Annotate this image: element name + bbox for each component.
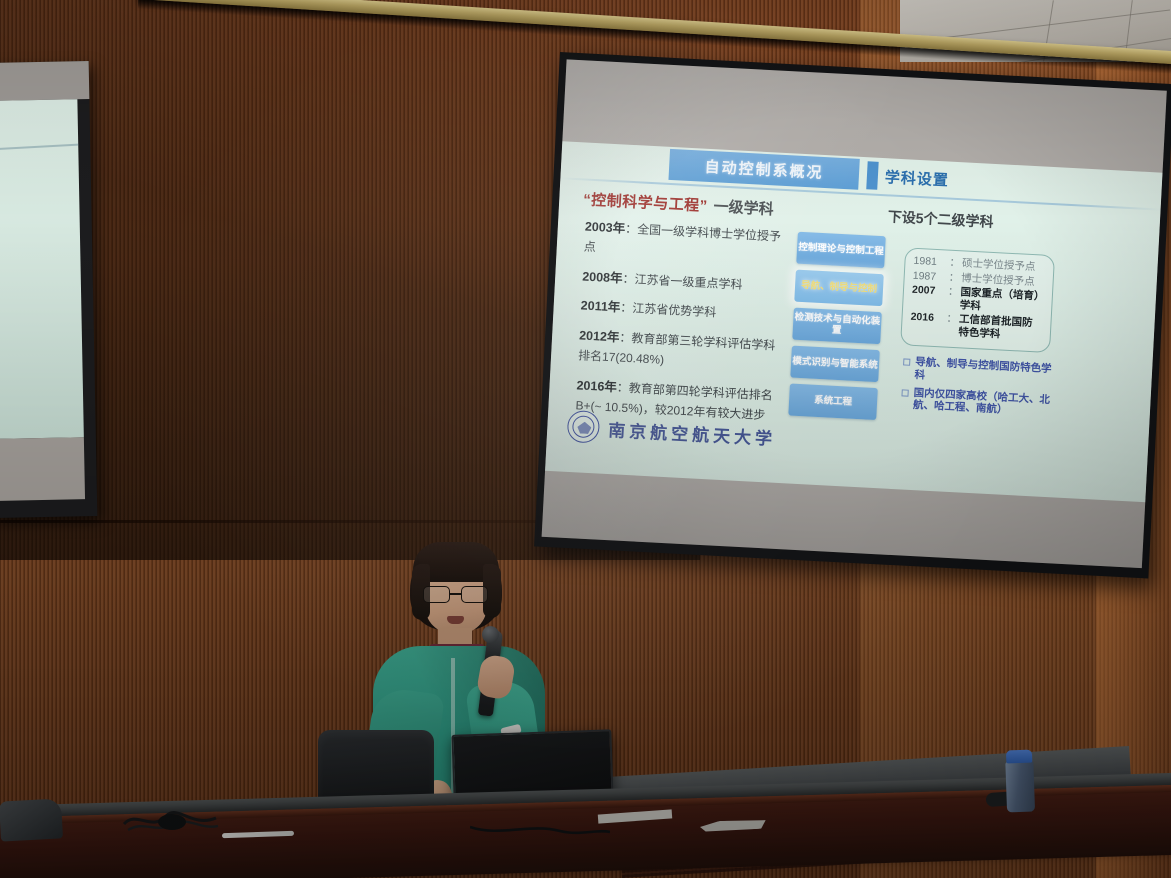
- callout-sep: ：: [949, 257, 960, 270]
- nuaa-seal-logo-icon: [567, 410, 601, 444]
- main-projection-screen: 自动控制系概况 学科设置 “控制科学与工程”一级学科 下设5个二级学科 2003…: [534, 52, 1171, 584]
- screen-face: [0, 99, 84, 439]
- timeline-year: 2016年: [576, 378, 617, 394]
- screen-line: [0, 144, 78, 151]
- cable-svg: [470, 823, 610, 835]
- timeline-year: 2011年: [580, 299, 620, 315]
- laptop-cable: [470, 822, 610, 834]
- timeline-year: 2003年: [585, 220, 626, 236]
- timeline-sep: ：: [620, 301, 633, 316]
- tangled-cables: [122, 806, 220, 834]
- callout-sep: ：: [947, 286, 959, 312]
- callout-row: 2016 ： 工信部首批国防特色学科: [910, 311, 1043, 343]
- callout-sep: ：: [948, 271, 959, 284]
- callout-year: 2007: [911, 284, 946, 311]
- callout-text: 国家重点（培育）学科: [959, 286, 1044, 316]
- secondary-projection-screen: [0, 61, 97, 518]
- black-bag: [0, 798, 63, 841]
- discipline-box: 控制理论与控制工程: [796, 232, 886, 269]
- presentation-slide: 自动控制系概况 学科设置 “控制科学与工程”一级学科 下设5个二级学科 2003…: [545, 141, 1162, 502]
- lecture-hall-scene: 自动控制系概况 学科设置 “控制科学与工程”一级学科 下设5个二级学科 2003…: [0, 0, 1171, 878]
- wall-seam: [0, 520, 560, 523]
- callout-text: 硕士学位授予点: [962, 257, 1036, 273]
- discipline-box: 检测技术与自动化装置: [792, 308, 882, 345]
- university-name: 南京航空航天大学: [608, 416, 777, 450]
- bullet-text: 导航、制导与控制国防特色学科: [914, 356, 1055, 389]
- title-suffix: 一级学科: [713, 198, 774, 218]
- header-accent-tick: [866, 161, 878, 190]
- discipline-label: 模式识别与智能系统: [792, 356, 878, 371]
- timeline-list: 2003年：全国一级学科博士学位授予点 2008年：江苏省一级重点学科 2011…: [574, 217, 793, 436]
- discipline-box: 系统工程: [788, 383, 878, 420]
- discipline-box: 模式识别与智能系统: [790, 346, 880, 383]
- timeline-item: 2008年：江苏省一级重点学科: [582, 266, 791, 297]
- cable-svg: [122, 806, 220, 834]
- timeline-year: 2008年: [582, 269, 623, 285]
- mouth: [447, 616, 464, 624]
- timeline-text: 江苏省一级重点学科: [634, 272, 743, 292]
- title-quoted: “控制科学与工程”: [583, 191, 708, 214]
- bullet-item: 导航、制导与控制国防特色学科: [902, 355, 1055, 389]
- screen-top-band: [0, 61, 89, 101]
- bullet-item: 国内仅四家高校（哈工大、北航、哈工程、南航）: [901, 386, 1054, 420]
- screen-surface: 自动控制系概况 学科设置 “控制科学与工程”一级学科 下设5个二级学科 2003…: [542, 59, 1167, 568]
- callout-year: 1981: [913, 255, 948, 269]
- title-right: 下设5个二级学科: [887, 206, 994, 232]
- water-bottle: [1005, 750, 1035, 813]
- header-section-title: 学科设置: [884, 166, 949, 190]
- discipline-label: 控制理论与控制工程: [798, 242, 884, 257]
- screen-bottom-band: [0, 437, 85, 501]
- callout-year: 1987: [912, 269, 947, 283]
- discipline-label: 系统工程: [814, 395, 853, 408]
- callout-sep: ：: [946, 313, 958, 339]
- bullet-text: 国内仅四家高校（哈工大、北航、哈工程、南航）: [913, 387, 1054, 420]
- header-banner-text: 自动控制系概况: [704, 156, 824, 183]
- bottle-body: [1005, 761, 1035, 813]
- bottle-cap: [1006, 750, 1032, 764]
- callout-year: 2016: [910, 311, 945, 338]
- callout-text: 工信部首批国防特色学科: [958, 314, 1043, 344]
- callout-text: 博士学位授予点: [961, 272, 1035, 288]
- bullet-square-icon: [903, 358, 910, 365]
- bullet-square-icon: [901, 389, 908, 396]
- bullet-list: 导航、制导与控制国防特色学科 国内仅四家高校（哈工大、北航、哈工程、南航）: [900, 355, 1055, 424]
- discipline-label: 导航、制导与控制: [801, 280, 877, 295]
- timeline-text: 江苏省优势学科: [632, 302, 717, 320]
- discipline-box-highlighted: 导航、制导与控制: [794, 270, 884, 307]
- timeline-item: 2003年：全国一级学科博士学位授予点: [583, 217, 793, 269]
- timeline-year: 2012年: [579, 328, 620, 344]
- discipline-box-stack: 控制理论与控制工程 导航、制导与控制 检测技术与自动化装置 模式识别与智能系统 …: [788, 232, 886, 426]
- discipline-label: 检测技术与自动化装置: [793, 313, 882, 339]
- eyeglasses-icon: [423, 586, 489, 603]
- timeline-item: 2011年：江苏省优势学科: [580, 296, 789, 327]
- milestone-callout: 1981 ： 硕士学位授予点 1987 ： 博士学位授予点 2007 ： 国家重…: [900, 247, 1055, 353]
- timeline-item: 2012年：教育部第三轮学科评估学科排名17(20.48%): [578, 325, 788, 377]
